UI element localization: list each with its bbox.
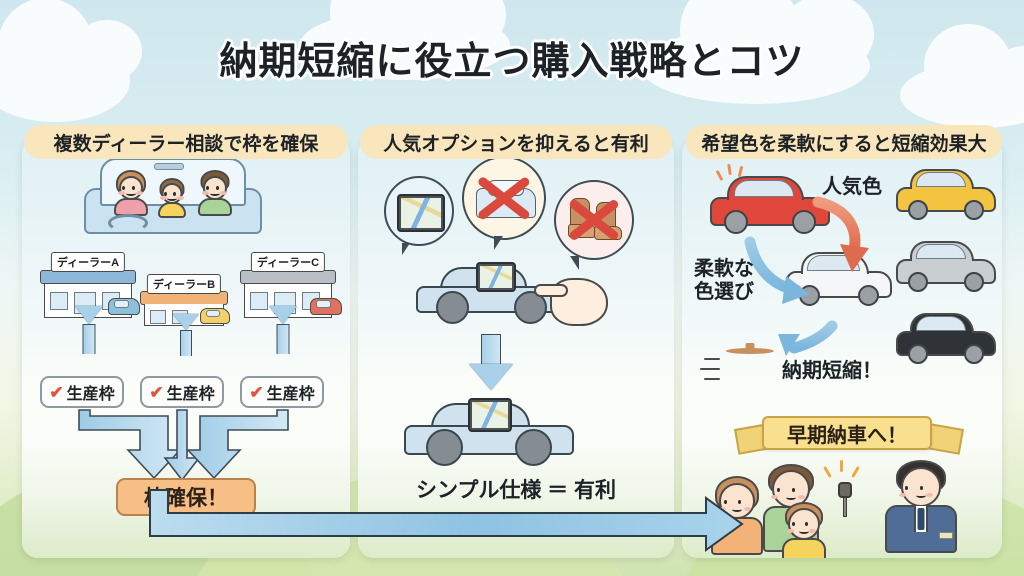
salesperson-figure xyxy=(880,460,962,554)
navigation-screen-icon xyxy=(397,194,445,232)
car-keys-icon xyxy=(834,482,856,518)
check-icon: ✔ xyxy=(149,384,163,401)
production-slot-b: ✔ 生産枠 xyxy=(140,376,224,408)
mother-figure xyxy=(112,170,150,214)
panel-flexible-color: 人気色 柔軟な 色選び xyxy=(682,138,1002,558)
check-icon: ✔ xyxy=(49,384,63,401)
father-figure xyxy=(196,170,234,214)
panel-multi-dealer: ディーラーA ディーラーB ディーラーC xyxy=(22,138,350,558)
dealer-b-sign-label: ディーラーB xyxy=(147,274,221,294)
option-bubble-sunroof xyxy=(462,156,546,240)
sunroof-icon xyxy=(474,176,538,222)
dealer-a-car-icon xyxy=(108,298,140,315)
mother-figure xyxy=(708,476,766,554)
popular-color-label: 人気色 xyxy=(822,176,882,199)
pointing-hand-icon xyxy=(550,278,608,326)
infographic-canvas: 納期短縮に役立つ購入戦略とコツ xyxy=(0,0,1024,576)
child-figure xyxy=(156,178,188,216)
popular-red-car xyxy=(710,172,830,234)
alt-silver-car xyxy=(896,238,996,292)
slot-secured-result: 枠確保！ xyxy=(116,478,256,516)
panel-1-header: 複数ディーラー相談で枠を確保 xyxy=(24,125,348,159)
dealer-b-car-icon xyxy=(200,308,230,324)
production-slot-c: ✔ 生産枠 xyxy=(240,376,324,408)
panel-2-header: 人気オプションを抑えると有利 xyxy=(360,125,672,159)
page-title: 納期短縮に役立つ購入戦略とコツ xyxy=(0,30,1024,85)
arrow-simplify xyxy=(468,334,514,390)
flexible-white-car xyxy=(786,248,892,306)
dealer-a-sign-label: ディーラーA xyxy=(51,252,125,272)
production-slot-c-label: 生産枠 xyxy=(267,380,315,404)
dealer-c-sign-label: ディーラーC xyxy=(251,252,325,272)
family-in-car-illustration xyxy=(84,156,262,234)
name-badge xyxy=(939,532,953,539)
panel-popular-options: シンプル仕様 ＝ 有利 xyxy=(358,138,674,558)
panel-3-header: 希望色を柔軟にすると短縮効果大 xyxy=(686,125,1002,159)
production-slot-b-label: 生産枠 xyxy=(167,380,215,404)
rearview-mirror-icon xyxy=(154,163,184,170)
option-bubble-leather-seats xyxy=(554,180,634,260)
delivery-scene xyxy=(702,450,982,554)
navigation-screen-icon xyxy=(468,398,512,432)
navigation-screen-icon xyxy=(476,262,516,292)
alt-yellow-car xyxy=(896,166,996,220)
sparkle-decoration xyxy=(823,466,832,478)
option-bubble-navigation xyxy=(384,176,454,246)
sparkle-decoration xyxy=(851,466,860,478)
production-slot-a-label: 生産枠 xyxy=(67,380,115,404)
steering-wheel-icon xyxy=(108,214,148,232)
stopwatch-icon xyxy=(726,348,774,354)
alt-black-car xyxy=(896,310,996,364)
leather-seat-icon xyxy=(568,196,626,246)
shorten-delivery-label: 納期短縮！ xyxy=(782,360,882,383)
flexible-choice-label: 柔軟な 色選び xyxy=(694,258,754,304)
early-delivery-banner: 早期納車へ！ xyxy=(762,416,932,450)
check-icon: ✔ xyxy=(249,384,263,401)
necktie-icon xyxy=(918,508,925,530)
child-figure xyxy=(778,502,830,554)
sparkle-decoration xyxy=(840,460,843,472)
dealer-c-car-icon xyxy=(310,298,342,315)
production-slot-a: ✔ 生産枠 xyxy=(40,376,124,408)
simple-spec-conclusion: シンプル仕様 ＝ 有利 xyxy=(358,474,674,504)
